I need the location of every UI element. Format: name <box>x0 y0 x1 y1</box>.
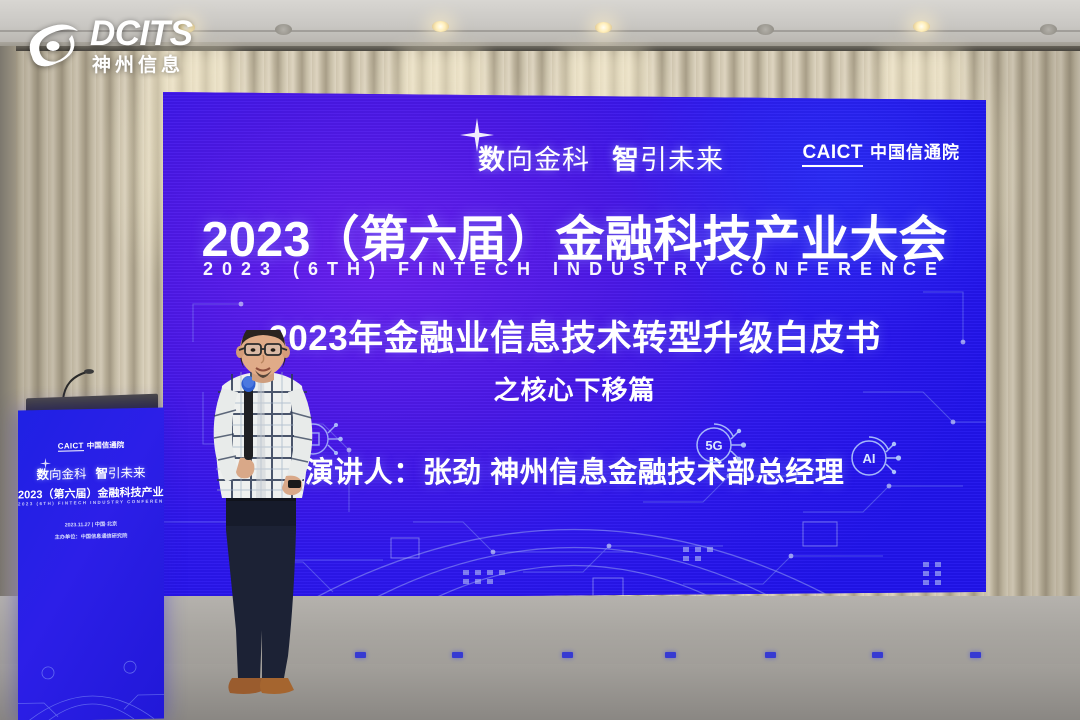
ceiling-spotlight <box>432 21 449 32</box>
slogan-strong-2: 智 <box>612 145 640 175</box>
ceiling-spotlight <box>595 22 612 33</box>
podium-caict-mark: CAICT <box>58 441 84 452</box>
podium-slogan: 数向金科智引未来 <box>18 461 164 483</box>
floor-led-marker <box>562 652 573 658</box>
conference-stage-photo: 数向金科智引未来 CAICT 中国信通院 2023（第六届）金融科技产业大会 2… <box>0 0 1080 720</box>
circuit-circle-icon-ai: AI <box>843 430 907 486</box>
dcits-logo-watermark: DCITS 神州信息 <box>22 16 193 75</box>
caict-logo: CAICT 中国信通院 <box>802 138 960 167</box>
ceiling-spotlight <box>913 21 930 32</box>
ceiling-downlight <box>1040 24 1057 35</box>
podium-caict-cn: 中国信通院 <box>87 440 125 450</box>
podium-slogan-light-1: 向金科 <box>49 467 87 482</box>
podium-caict-logo: CAICT中国信通院 <box>18 433 164 454</box>
badge-label-ai: AI <box>863 451 876 466</box>
wall-left-edge <box>0 46 16 642</box>
slogan-light-2: 引未来 <box>640 145 724 175</box>
podium-circuit-pattern <box>18 608 164 720</box>
watermark-brand-en: DCITS <box>90 16 193 51</box>
circuit-circle-icon-5g: 5G <box>688 417 752 473</box>
watermark-brand-cn: 神州信息 <box>92 56 193 75</box>
badge-label-5g: 5G <box>705 438 722 453</box>
screen-slogan: 数向金科智引未来 <box>478 138 724 177</box>
floor-led-marker <box>765 652 776 658</box>
dcits-swirl-icon <box>22 17 84 75</box>
floor-led-marker <box>970 652 981 658</box>
podium-slogan-light-2: 引未来 <box>108 466 146 481</box>
floor-led-marker <box>452 652 463 658</box>
conference-title-en: 2023 (6TH) FINTECH INDUSTRY CONFERENCE <box>163 259 986 280</box>
speaker-podium: CAICT中国信通院 数向金科智引未来 2023（第六届）金融科技产业大会 20… <box>18 407 164 720</box>
slogan-light-1: 向金科 <box>506 145 590 175</box>
presenter-person <box>196 330 328 700</box>
floor-led-marker <box>355 652 366 658</box>
podium-organizer: 主办单位：中国信息通信研究院 <box>18 531 164 541</box>
ceiling-downlight <box>757 24 774 35</box>
ceiling-downlight <box>275 24 292 35</box>
podium-date-location: 2023.11.27 | 中国·北京 <box>18 519 164 529</box>
podium-slogan-strong-1: 数 <box>36 468 49 482</box>
floor-led-marker <box>665 652 676 658</box>
slogan-strong-1: 数 <box>478 145 506 175</box>
floor-led-marker <box>872 652 883 658</box>
podium-slogan-strong-2: 智 <box>96 467 109 481</box>
caict-mark-text: CAICT <box>802 142 863 167</box>
caict-cn-text: 中国信通院 <box>870 138 960 163</box>
